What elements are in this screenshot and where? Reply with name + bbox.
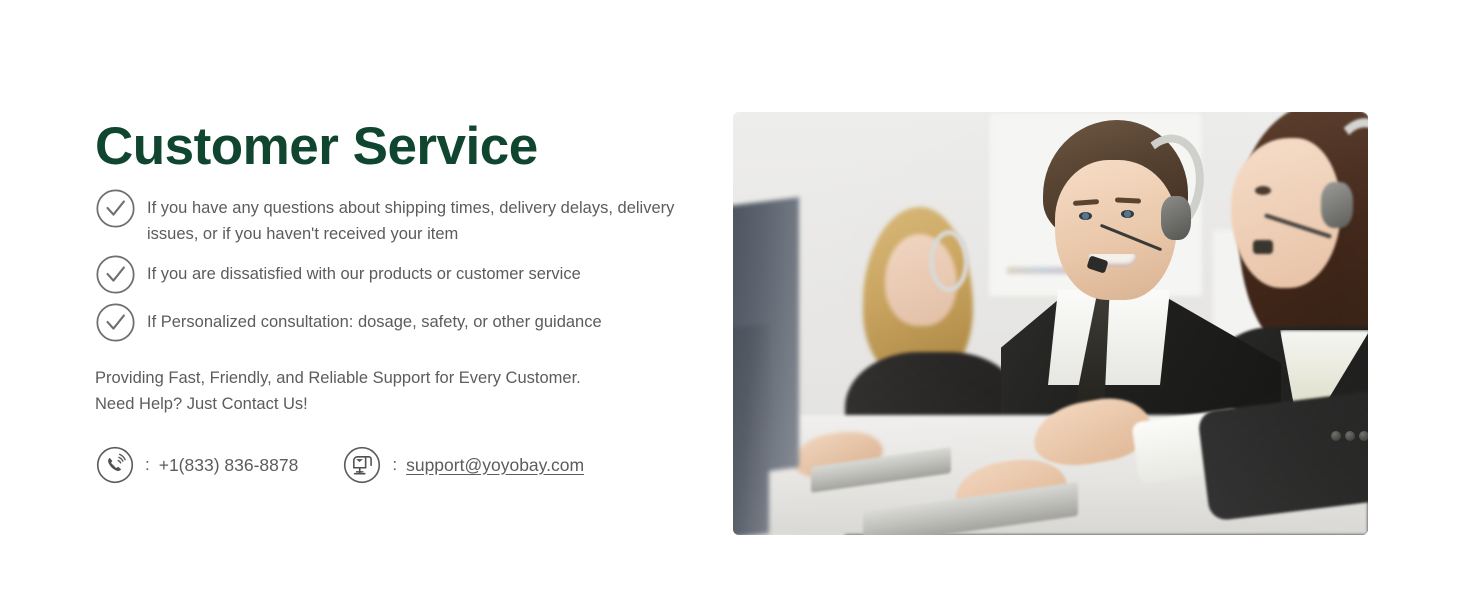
agent-center-eye-left xyxy=(1079,212,1092,220)
check-circle-icon xyxy=(95,302,136,343)
tagline: Providing Fast, Friendly, and Reliable S… xyxy=(95,365,695,417)
benefits-list: If you have any questions about shipping… xyxy=(95,192,695,343)
list-item-label: If Personalized consultation: dosage, sa… xyxy=(147,306,602,335)
phone-ring-icon xyxy=(95,445,135,485)
content-column: Customer Service If you have any questio… xyxy=(95,118,695,485)
customer-service-photo xyxy=(733,112,1368,535)
list-item: If Personalized consultation: dosage, sa… xyxy=(95,306,695,343)
check-circle-icon xyxy=(95,254,136,295)
email-link[interactable]: support@yoyobay.com xyxy=(406,455,584,476)
cuff-buttons xyxy=(1331,431,1368,443)
phone-separator: : xyxy=(145,455,150,475)
page-title: Customer Service xyxy=(95,118,695,176)
agent-right-headset-cup xyxy=(1321,182,1353,228)
agent-right-mic xyxy=(1253,240,1273,254)
customer-service-section: Customer Service If you have any questio… xyxy=(0,0,1464,600)
contact-email[interactable]: : support@yoyobay.com xyxy=(342,445,584,485)
list-item: If you have any questions about shipping… xyxy=(95,192,695,247)
list-item: If you are dissatisfied with our product… xyxy=(95,258,695,295)
agent-center-headset-cup xyxy=(1161,196,1191,240)
list-item-label: If you are dissatisfied with our product… xyxy=(147,258,581,287)
check-circle-icon xyxy=(95,188,136,229)
list-item-label: If you have any questions about shipping… xyxy=(147,192,677,247)
tagline-line-2: Need Help? Just Contact Us! xyxy=(95,391,695,417)
contact-row: : +1(833) 836-8878 : support@y xyxy=(95,445,695,485)
phone-number[interactable]: +1(833) 836-8878 xyxy=(159,455,299,476)
agent-background-headset xyxy=(929,230,969,292)
contact-phone[interactable]: : +1(833) 836-8878 xyxy=(95,445,298,485)
mailbox-icon xyxy=(342,445,382,485)
email-separator: : xyxy=(392,455,397,475)
tagline-line-1: Providing Fast, Friendly, and Reliable S… xyxy=(95,365,695,391)
photo-scene xyxy=(733,112,1368,535)
agent-right-eye xyxy=(1255,186,1271,195)
monitor-near xyxy=(733,324,769,535)
